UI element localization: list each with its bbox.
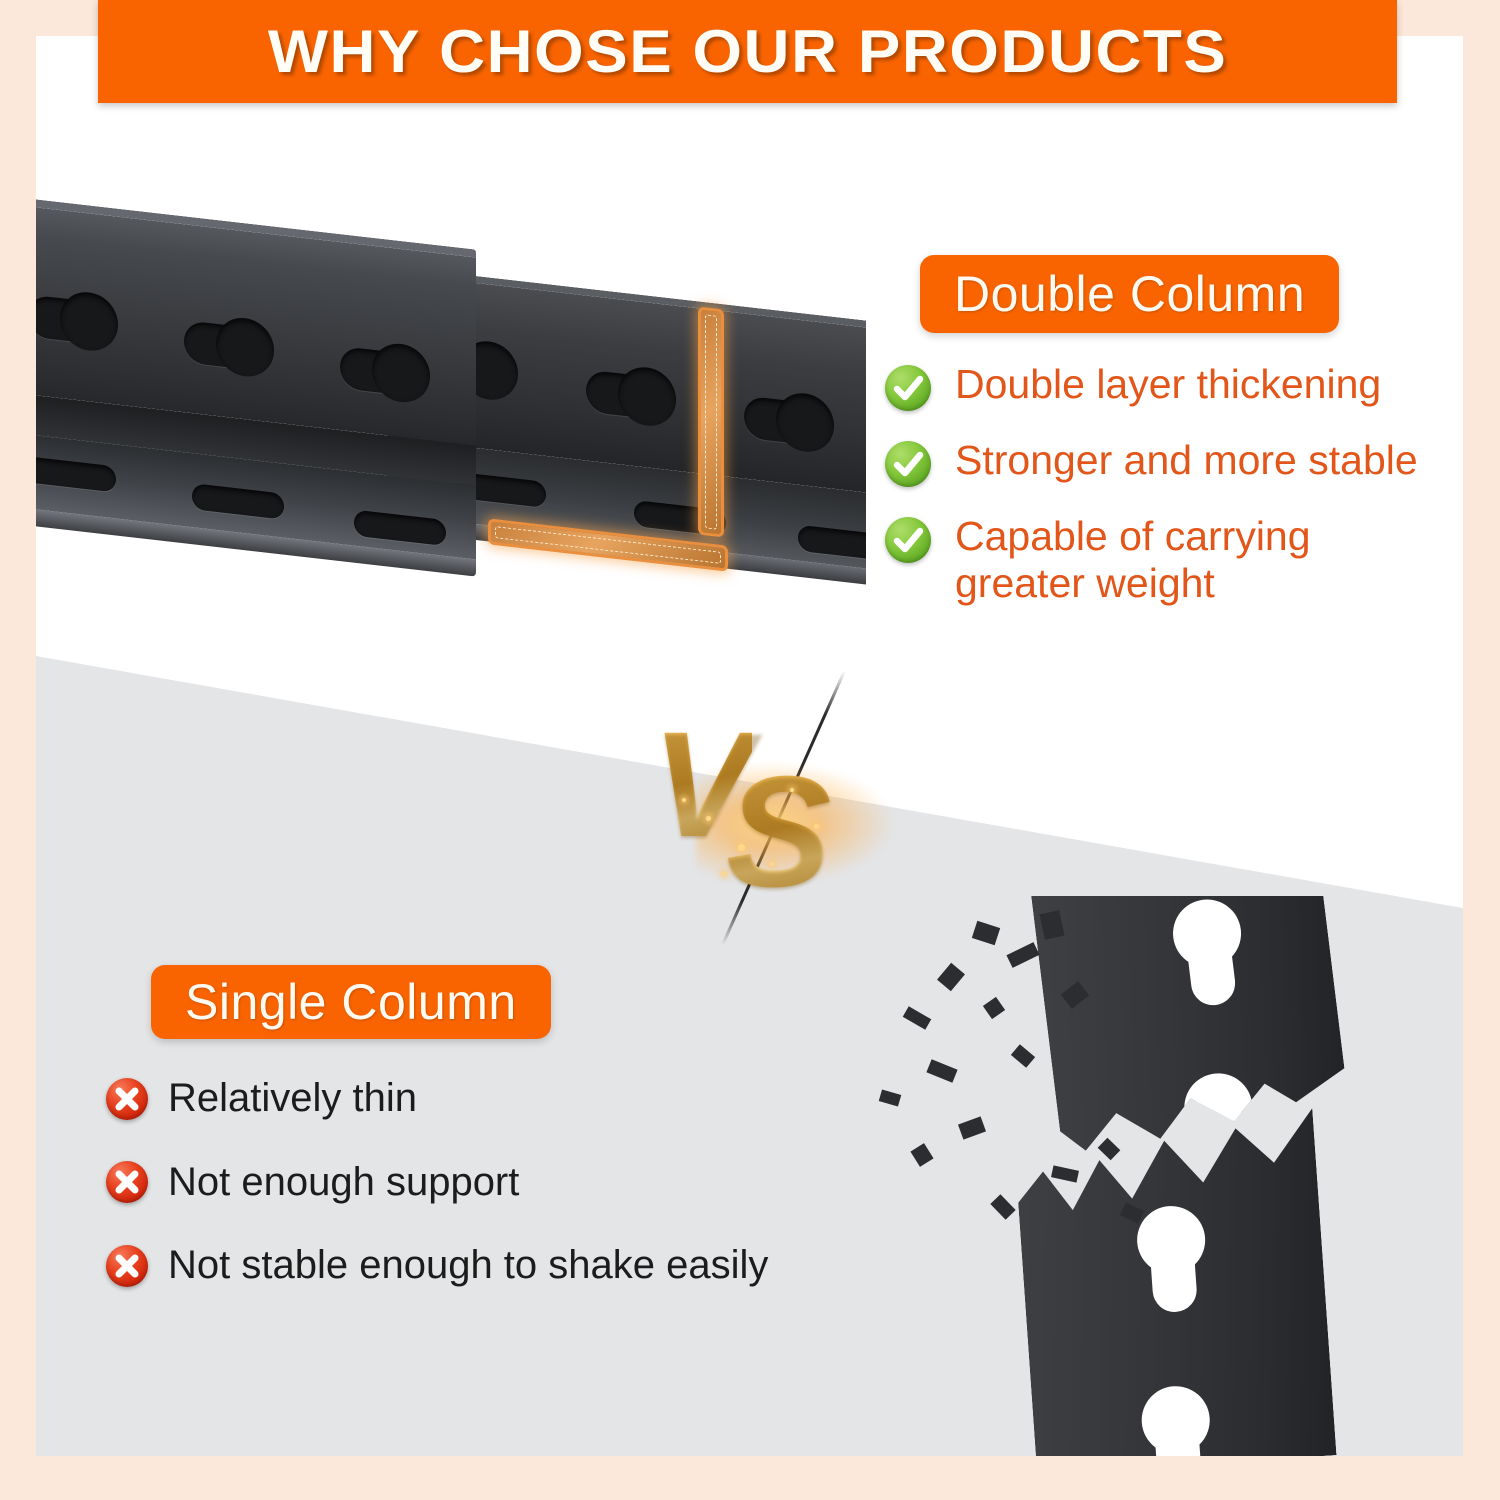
list-item-label: Not enough support <box>168 1160 519 1206</box>
cross-circle-icon <box>106 1161 148 1203</box>
cross-circle-icon <box>106 1245 148 1287</box>
debris-fragment <box>958 1116 986 1139</box>
debris-fragment <box>1011 1044 1035 1068</box>
single-column-badge: Single Column <box>151 965 551 1039</box>
check-circle-icon <box>885 441 931 487</box>
oval-slot <box>354 510 446 546</box>
debris-fragment <box>1098 1138 1121 1161</box>
broken-single-column-photo <box>856 896 1463 1456</box>
list-item-label: Double layer thickening <box>955 361 1381 408</box>
single-column-drawbacks-list: Relatively thin Not enough support Not s… <box>106 1076 906 1327</box>
list-item: Not enough support <box>106 1160 906 1206</box>
debris-fragment <box>972 921 1000 946</box>
debris-fragment <box>926 1059 957 1082</box>
fold-dash-outline <box>705 314 717 529</box>
infographic-canvas: V S Double Column Double layer thickenin… <box>0 0 1500 1500</box>
debris-fragment <box>983 997 1005 1019</box>
versus-letter-s: S <box>726 742 831 923</box>
oval-slot <box>36 456 116 492</box>
spark-particle <box>682 798 686 802</box>
spark-particle <box>738 844 745 851</box>
keyhole-slot <box>1148 1215 1199 1314</box>
debris-fragment <box>903 1006 932 1029</box>
debris-fragment <box>910 1143 933 1167</box>
oval-slot <box>192 483 284 519</box>
keyhole-slot <box>340 346 424 398</box>
content-board: V S Double Column Double layer thickenin… <box>36 36 1463 1456</box>
list-item-label: Relatively thin <box>168 1076 417 1122</box>
list-item: Double layer thickening <box>885 361 1463 411</box>
double-column-product-photo <box>36 148 866 658</box>
spark-particle <box>770 862 774 866</box>
list-item: Capable of carrying greater weight <box>885 513 1463 606</box>
keyhole-slot <box>1152 1395 1203 1456</box>
steel-beam-front <box>36 196 476 580</box>
spark-particle <box>814 824 819 829</box>
double-column-benefits-list: Double layer thickening Stronger and mor… <box>885 361 1463 632</box>
debris-fragment <box>1051 1165 1079 1182</box>
spark-particle <box>790 788 794 792</box>
double-layer-fold-highlight-vertical <box>698 307 724 538</box>
broken-post-lower-segment <box>1011 1086 1336 1456</box>
keyhole-slot <box>744 396 828 448</box>
debris-fragment <box>1006 942 1039 968</box>
debris-fragment <box>990 1194 1015 1220</box>
page-title: WHY CHOSE OUR PRODUCTS <box>268 17 1228 86</box>
spark-particle <box>706 816 711 821</box>
oval-slot <box>798 525 866 561</box>
check-circle-icon <box>885 365 931 411</box>
single-column-badge-label: Single Column <box>185 973 517 1031</box>
spark-particle <box>722 872 726 876</box>
keyhole-slot <box>184 320 268 372</box>
check-circle-icon <box>885 517 931 563</box>
cross-circle-icon <box>106 1078 148 1120</box>
keyhole-slot <box>1182 907 1237 1008</box>
list-item-label: Stronger and more stable <box>955 437 1418 484</box>
versus-emblem: V S <box>634 666 934 916</box>
debris-fragment <box>937 963 965 991</box>
list-item: Relatively thin <box>106 1076 906 1122</box>
double-column-badge-label: Double Column <box>954 265 1305 323</box>
list-item-label: Capable of carrying greater weight <box>955 513 1385 606</box>
keyhole-slot <box>586 370 670 422</box>
list-item: Not stable enough to shake easily <box>106 1243 906 1289</box>
list-item-label: Not stable enough to shake easily <box>168 1243 768 1289</box>
keyhole-slot <box>36 295 112 347</box>
double-column-badge: Double Column <box>920 255 1339 333</box>
header-banner: WHY CHOSE OUR PRODUCTS <box>98 0 1397 103</box>
list-item: Stronger and more stable <box>885 437 1463 487</box>
